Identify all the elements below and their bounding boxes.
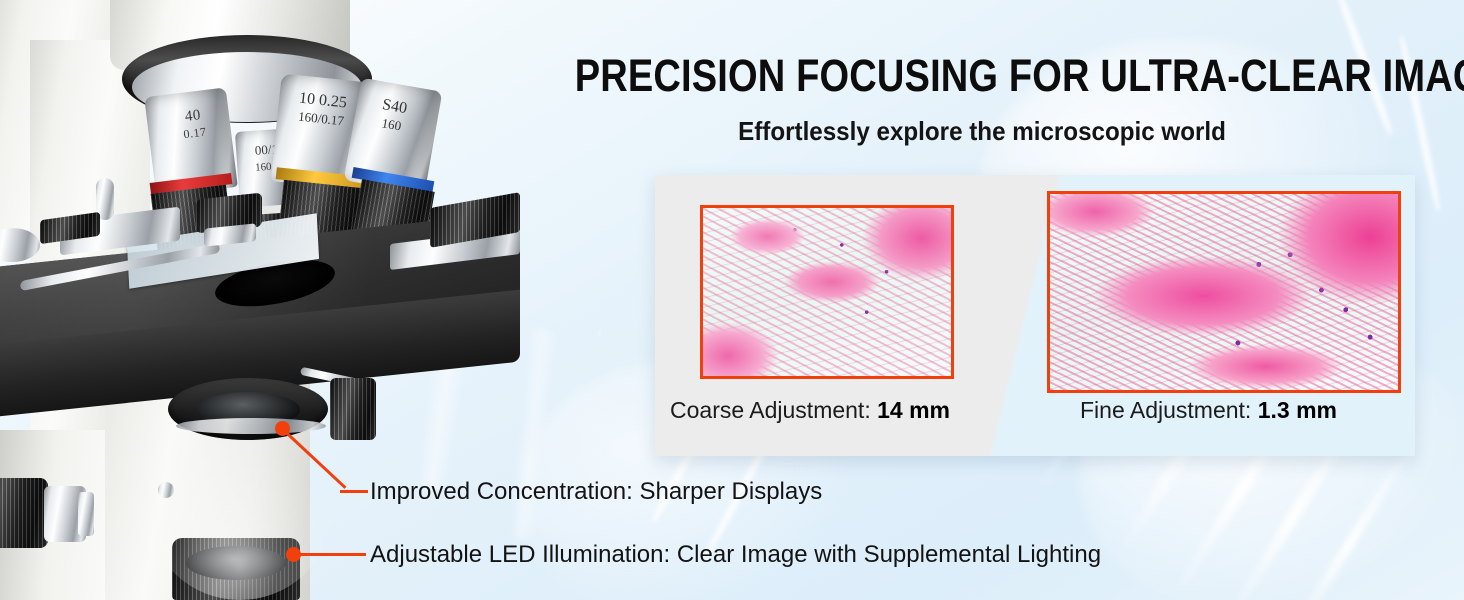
led-glow [150, 430, 330, 600]
callout-leader-horizontal-1 [340, 490, 368, 493]
coarse-adjustment-caption: Coarse Adjustment: 14 mm [670, 397, 950, 424]
body-screw-lower [158, 482, 174, 498]
page-title: PRECISION FOCUSING FOR ULTRA-CLEAR IMAGE [575, 52, 1390, 100]
comparison-panel: Coarse Adjustment: 14 mm Fine Adjustment… [655, 175, 1415, 456]
fine-caption-label: Fine Adjustment: [1080, 397, 1251, 423]
headline-block: PRECISION FOCUSING FOR ULTRA-CLEAR IMAGE… [500, 52, 1464, 147]
tissue-micrograph-low [703, 208, 951, 376]
microscope-product-photo: 400.17 00/1160/0 10 0.25160/0.17 S40160 [0, 0, 520, 600]
fine-caption-value: 1.3 mm [1258, 397, 1337, 423]
condenser-adjust-knob[interactable] [330, 378, 376, 440]
fine-specimen-image [1047, 191, 1401, 393]
callout-leader-horizontal-2 [298, 553, 366, 556]
coarse-caption-label: Coarse Adjustment: [670, 397, 871, 423]
page-subtitle: Effortlessly explore the microscopic wor… [534, 116, 1431, 147]
tissue-micrograph-high [1050, 194, 1398, 390]
fine-adjustment-caption: Fine Adjustment: 1.3 mm [1080, 397, 1337, 424]
callout-text-2: Adjustable LED Illumination: Clear Image… [370, 541, 1101, 569]
coarse-focus-knob[interactable] [0, 478, 48, 548]
callout-text-1: Improved Concentration: Sharper Displays [370, 478, 822, 506]
coarse-caption-value: 14 mm [877, 397, 950, 423]
focus-shaft-collar [78, 492, 94, 536]
coarse-specimen-image [700, 205, 954, 379]
promo-banner: 400.17 00/1160/0 10 0.25160/0.17 S40160 [0, 0, 1464, 600]
